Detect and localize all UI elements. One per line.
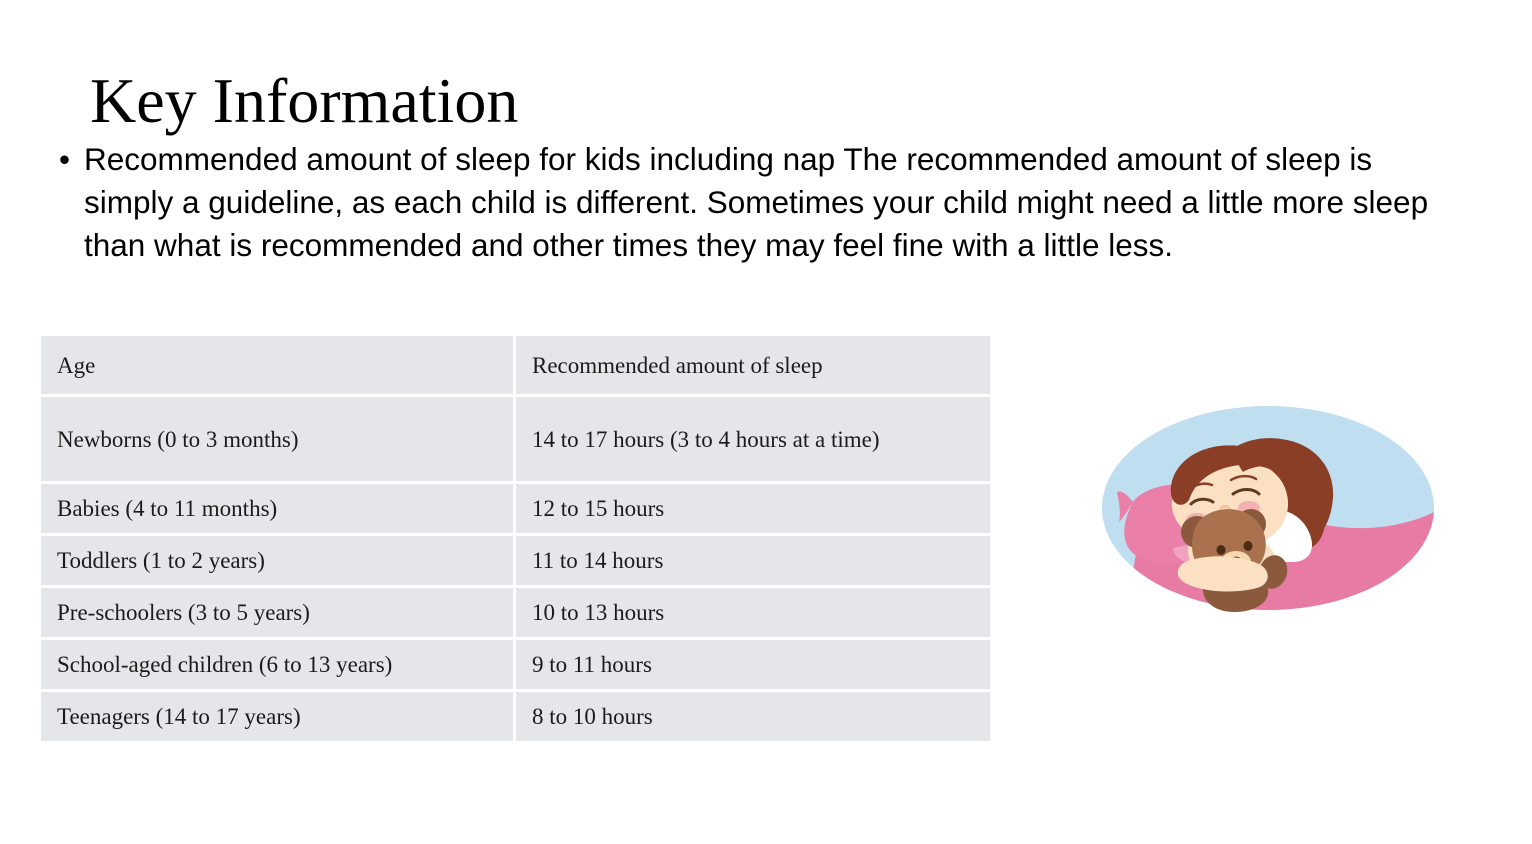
table-row: Teenagers (14 to 17 years) 8 to 10 hours [41, 692, 990, 741]
cell-age: Teenagers (14 to 17 years) [41, 692, 516, 741]
cell-age: Pre-schoolers (3 to 5 years) [41, 588, 516, 640]
cell-age: Newborns (0 to 3 months) [41, 397, 516, 484]
table-row: Toddlers (1 to 2 years) 11 to 14 hours [41, 536, 990, 588]
cell-sleep: 10 to 13 hours [516, 588, 990, 640]
cell-sleep: 11 to 14 hours [516, 536, 990, 588]
table-row: Newborns (0 to 3 months) 14 to 17 hours … [41, 397, 990, 484]
sleeping-girl-illustration [1045, 390, 1485, 620]
bullet-marker-icon: • [59, 138, 70, 181]
table-row: School-aged children (6 to 13 years) 9 t… [41, 640, 990, 692]
table-header-row: Age Recommended amount of sleep [41, 336, 990, 397]
column-header-age: Age [41, 336, 516, 397]
table-row: Babies (4 to 11 months) 12 to 15 hours [41, 484, 990, 536]
cell-age: School-aged children (6 to 13 years) [41, 640, 516, 692]
page-title: Key Information [90, 66, 518, 136]
column-header-sleep: Recommended amount of sleep [516, 336, 990, 397]
sleeping-girl-with-teddy-bear-icon [1045, 390, 1485, 620]
cell-sleep: 12 to 15 hours [516, 484, 990, 536]
bullet-paragraph: • Recommended amount of sleep for kids i… [57, 138, 1429, 267]
body-content: • Recommended amount of sleep for kids i… [57, 138, 1429, 267]
table-row: Pre-schoolers (3 to 5 years) 10 to 13 ho… [41, 588, 990, 640]
cell-age: Toddlers (1 to 2 years) [41, 536, 516, 588]
table-body: Age Recommended amount of sleep Newborns… [41, 336, 990, 741]
cell-sleep: 8 to 10 hours [516, 692, 990, 741]
cell-sleep: 9 to 11 hours [516, 640, 990, 692]
bear-right-eye [1244, 541, 1253, 551]
cell-sleep: 14 to 17 hours (3 to 4 hours at a time) [516, 397, 990, 484]
bear-left-eye [1217, 545, 1226, 555]
cell-age: Babies (4 to 11 months) [41, 484, 516, 536]
recommended-sleep-table: Age Recommended amount of sleep Newborns… [41, 336, 990, 741]
bullet-paragraph-text: Recommended amount of sleep for kids inc… [84, 141, 1428, 263]
